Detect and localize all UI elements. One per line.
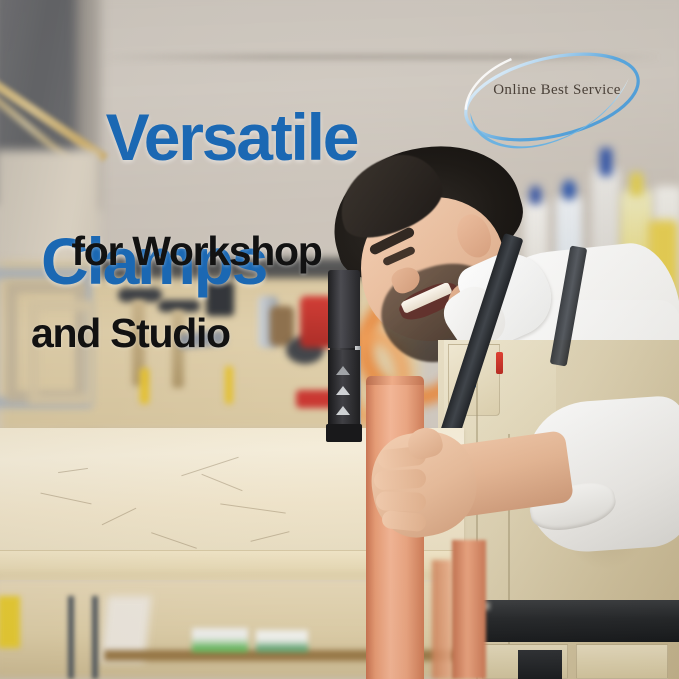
brand-logo: Online Best Service (455, 44, 650, 152)
finger-ring (376, 491, 427, 512)
metal-rod-1 (68, 596, 74, 679)
bottle-2-neck (630, 172, 643, 196)
subheadline: for Workshop and Studio (31, 190, 322, 436)
green-package-2 (256, 630, 308, 652)
subheadline-line-2: and Studio (31, 313, 322, 354)
bar-clamp-foot (326, 424, 362, 442)
green-package-1 (192, 628, 248, 652)
apron-dark-patch (518, 650, 562, 679)
red-pencil (496, 352, 503, 374)
subheadline-line-1: for Workshop (71, 228, 321, 274)
headline-line-1: Versatile (106, 100, 358, 174)
bottle-1-neck (600, 148, 612, 176)
finger-middle (374, 469, 427, 491)
pipe-background-2 (432, 560, 452, 679)
apron-lower-pocket-right (576, 644, 668, 679)
product-banner: Versatile Clamps for Workshop and Studio (0, 0, 679, 679)
bottle-4-neck (530, 186, 541, 204)
yellow-box (0, 596, 20, 648)
logo-text: Online Best Service (477, 82, 637, 99)
salmon-pipe-rim (366, 376, 424, 385)
metal-rod-2 (92, 596, 98, 679)
pipe-background-1 (452, 540, 486, 679)
bottle-3-cap (562, 180, 576, 200)
